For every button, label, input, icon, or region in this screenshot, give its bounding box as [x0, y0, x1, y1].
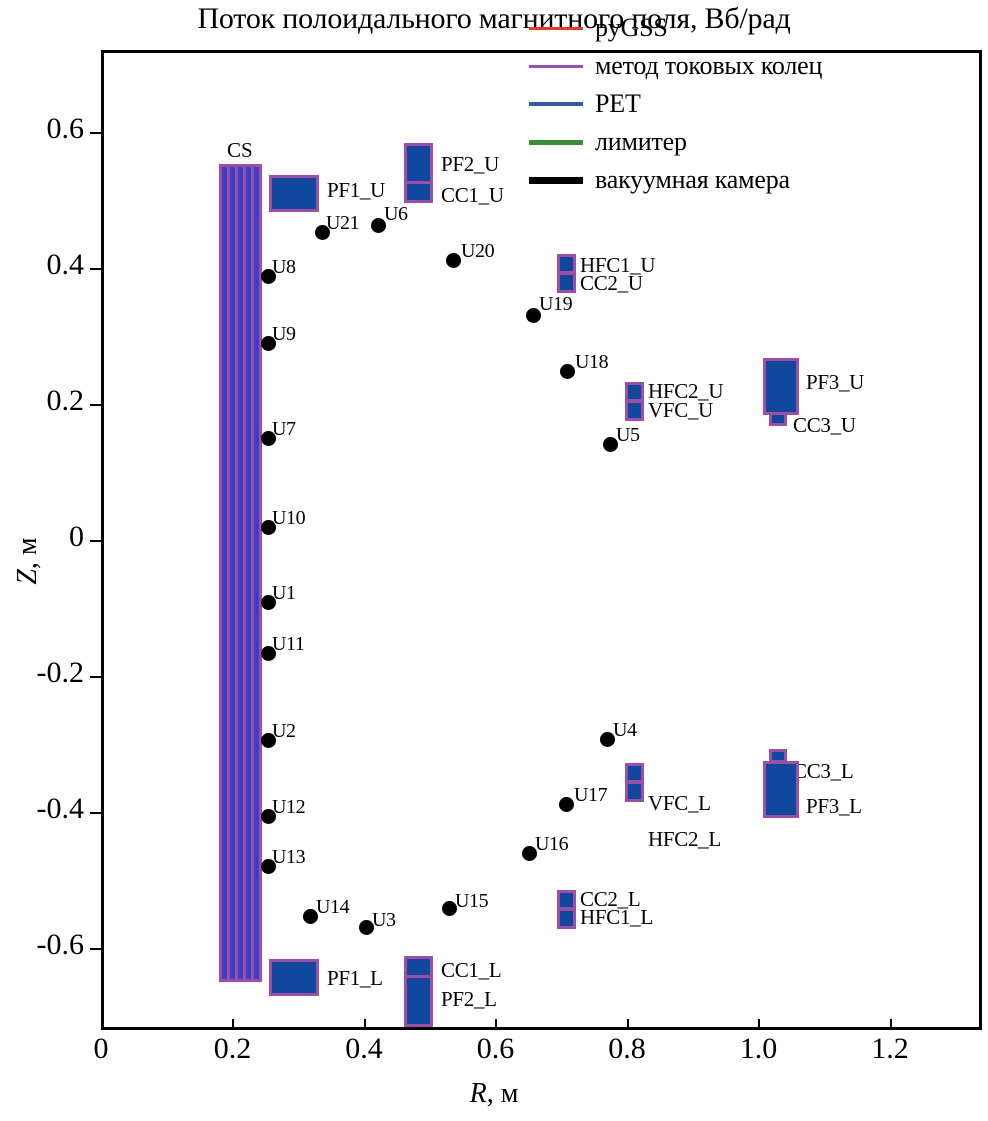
coil-pf3_l: [763, 761, 799, 818]
probe-label-u7: U7: [272, 418, 296, 441]
x-axis-label: R, м: [0, 1078, 988, 1110]
x-axis-unit: , м: [487, 1078, 519, 1109]
probe-label-u19: U19: [539, 293, 572, 316]
legend-item[interactable]: метод токовых колец: [529, 47, 869, 85]
probe-label-u4: U4: [613, 719, 637, 742]
probe-label-u11: U11: [272, 633, 305, 656]
probe-label-u17: U17: [574, 784, 607, 807]
legend-swatch-icon: [529, 177, 583, 184]
coil-cc2_u: [557, 272, 576, 293]
coil-cc1_u: [404, 181, 433, 203]
legend-item[interactable]: лимитер: [529, 123, 869, 161]
coil-hfc1_u: [557, 254, 576, 274]
legend-swatch-icon: [529, 27, 583, 30]
legend-label: лимитер: [595, 127, 687, 157]
probe-label-u3: U3: [372, 909, 396, 932]
x-tick-label: 0.6: [455, 1032, 535, 1066]
probe-label-u14: U14: [316, 896, 349, 919]
probe-label-u18: U18: [575, 351, 608, 374]
probe-label-u16: U16: [535, 833, 568, 856]
y-tick-label: 0.2: [0, 384, 84, 418]
x-tick: [232, 1019, 234, 1030]
probe-label-u8: U8: [272, 256, 296, 279]
y-axis-label: Z, м: [12, 481, 44, 641]
legend-swatch-icon: [529, 102, 583, 106]
coil-label-cc2_u: CC2_U: [580, 271, 643, 296]
x-tick-label: 0: [61, 1032, 141, 1066]
coil-label-pf3_l: PF3_L: [806, 794, 862, 819]
legend-label: PET: [595, 89, 641, 119]
legend-label: pyGSS: [595, 13, 668, 43]
x-tick-label: 0.4: [324, 1032, 404, 1066]
y-axis-symbol: Z: [12, 569, 43, 585]
probe-label-u5: U5: [616, 424, 640, 447]
coil-cc3_u: [769, 412, 787, 426]
legend-item[interactable]: pyGSS: [529, 9, 869, 47]
y-tick-label: -0.2: [0, 656, 84, 690]
coil-label-cc1_l: CC1_L: [441, 958, 501, 983]
probe-label-u13: U13: [272, 846, 305, 869]
coil-hfc2_l: [625, 781, 644, 802]
coil-label-cc3_u: CC3_U: [793, 413, 856, 438]
x-tick-label: 0.2: [192, 1032, 272, 1066]
legend-swatch-icon: [529, 65, 583, 68]
x-tick: [495, 1019, 497, 1030]
probe-label-u15: U15: [455, 890, 488, 913]
coil-pf3_u: [763, 358, 799, 415]
x-tick: [101, 1019, 103, 1030]
coil-label-cc3_l: CC3_L: [793, 759, 853, 784]
legend-swatch-icon: [529, 140, 583, 145]
x-axis-symbol: R: [470, 1078, 487, 1109]
legend-item[interactable]: PET: [529, 85, 869, 123]
legend-item[interactable]: вакуумная камера: [529, 161, 869, 199]
coil-label-vfc_u: VFC_U: [648, 398, 713, 423]
probe-label-u6: U6: [384, 203, 408, 226]
y-tick: [90, 540, 101, 542]
coil-label-vfc_l: VFC_L: [648, 791, 711, 816]
probe-label-u2: U2: [272, 720, 296, 743]
x-tick: [364, 1019, 366, 1030]
legend-label: метод токовых колец: [595, 51, 822, 81]
coil-label-pf2_l: PF2_L: [441, 987, 497, 1012]
x-tick: [890, 1019, 892, 1030]
coil-vfc_l: [625, 763, 644, 783]
coil-label-pf2_u: PF2_U: [441, 152, 499, 177]
coil-pf1_l: [269, 959, 319, 996]
poloidal-flux-plot: Поток полоидального магнитного поля, Вб/…: [0, 0, 988, 1121]
legend-label: вакуумная камера: [595, 165, 790, 195]
x-tick: [758, 1019, 760, 1030]
probe-label-u12: U12: [272, 796, 305, 819]
coil-label-cs: CS: [227, 138, 253, 163]
coil-label-pf3_u: PF3_U: [806, 370, 864, 395]
probe-label-u1: U1: [272, 582, 296, 605]
y-tick-label: 0.6: [0, 112, 84, 146]
x-tick-label: 1.0: [718, 1032, 798, 1066]
legend: pyGSSметод токовых колецPETлимитервакуум…: [529, 9, 869, 199]
y-tick-label: -0.4: [0, 792, 84, 826]
x-tick-label: 0.8: [587, 1032, 667, 1066]
probe-label-u10: U10: [272, 507, 305, 530]
y-tick-label: 0.4: [0, 248, 84, 282]
y-tick: [90, 812, 101, 814]
coil-vfc_u: [625, 400, 644, 421]
probe-u18: [560, 364, 575, 379]
probe-label-u21: U21: [326, 212, 359, 235]
coil-cs: [219, 164, 262, 982]
coil-label-pf1_u: PF1_U: [327, 178, 385, 203]
y-tick: [90, 268, 101, 270]
y-tick: [90, 676, 101, 678]
y-tick-label: -0.6: [0, 928, 84, 962]
probe-label-u20: U20: [461, 240, 494, 263]
coil-label-pf1_l: PF1_L: [327, 966, 383, 991]
coil-pf1_u: [269, 175, 319, 212]
coil-pf2_l: [404, 975, 433, 1027]
y-tick: [90, 948, 101, 950]
coil-label-hfc1_l: HFC1_L: [580, 905, 653, 930]
y-tick: [90, 132, 101, 134]
y-tick: [90, 404, 101, 406]
y-axis-unit: , м: [12, 537, 43, 569]
probe-label-u9: U9: [272, 323, 296, 346]
coil-hfc1_l: [557, 908, 576, 929]
x-tick-label: 1.2: [850, 1032, 930, 1066]
coil-cc2_l: [557, 890, 576, 910]
coil-hfc2_u: [625, 382, 644, 402]
coil-label-cc1_u: CC1_U: [441, 183, 504, 208]
probe-u20: [446, 253, 461, 268]
x-tick: [627, 1019, 629, 1030]
coil-label-hfc2_l: HFC2_L: [648, 827, 721, 852]
probe-u17: [559, 797, 574, 812]
